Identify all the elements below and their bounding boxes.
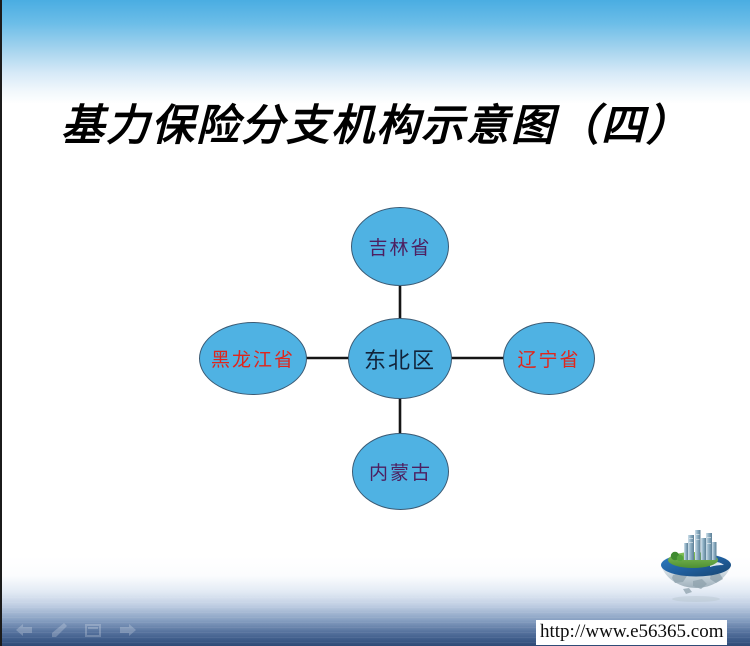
pen-icon[interactable]	[50, 622, 68, 638]
node-heilongjiang[interactable]: 黑龙江省	[199, 322, 307, 395]
node-jilin[interactable]: 吉林省	[351, 207, 449, 286]
node-center-northeast-region[interactable]: 东北区	[348, 318, 452, 399]
back-arrow-icon[interactable]	[14, 622, 34, 638]
top-gradient-band	[2, 0, 750, 104]
node-liaoning[interactable]: 辽宁省	[503, 322, 595, 395]
slide-menu-icon[interactable]	[84, 622, 102, 638]
slide-canvas: 基力保险分支机构示意图（四） 吉林省 黑龙江省 东北区 辽宁省 内蒙古	[0, 0, 750, 646]
presentation-nav-bar[interactable]	[14, 622, 138, 638]
node-neimenggu[interactable]: 内蒙古	[352, 433, 449, 510]
footer-url[interactable]: http://www.e56365.com	[536, 620, 727, 645]
slide-title: 基力保险分支机构示意图（四）	[2, 104, 750, 149]
globe-city-logo	[655, 527, 737, 605]
forward-arrow-icon[interactable]	[118, 622, 138, 638]
